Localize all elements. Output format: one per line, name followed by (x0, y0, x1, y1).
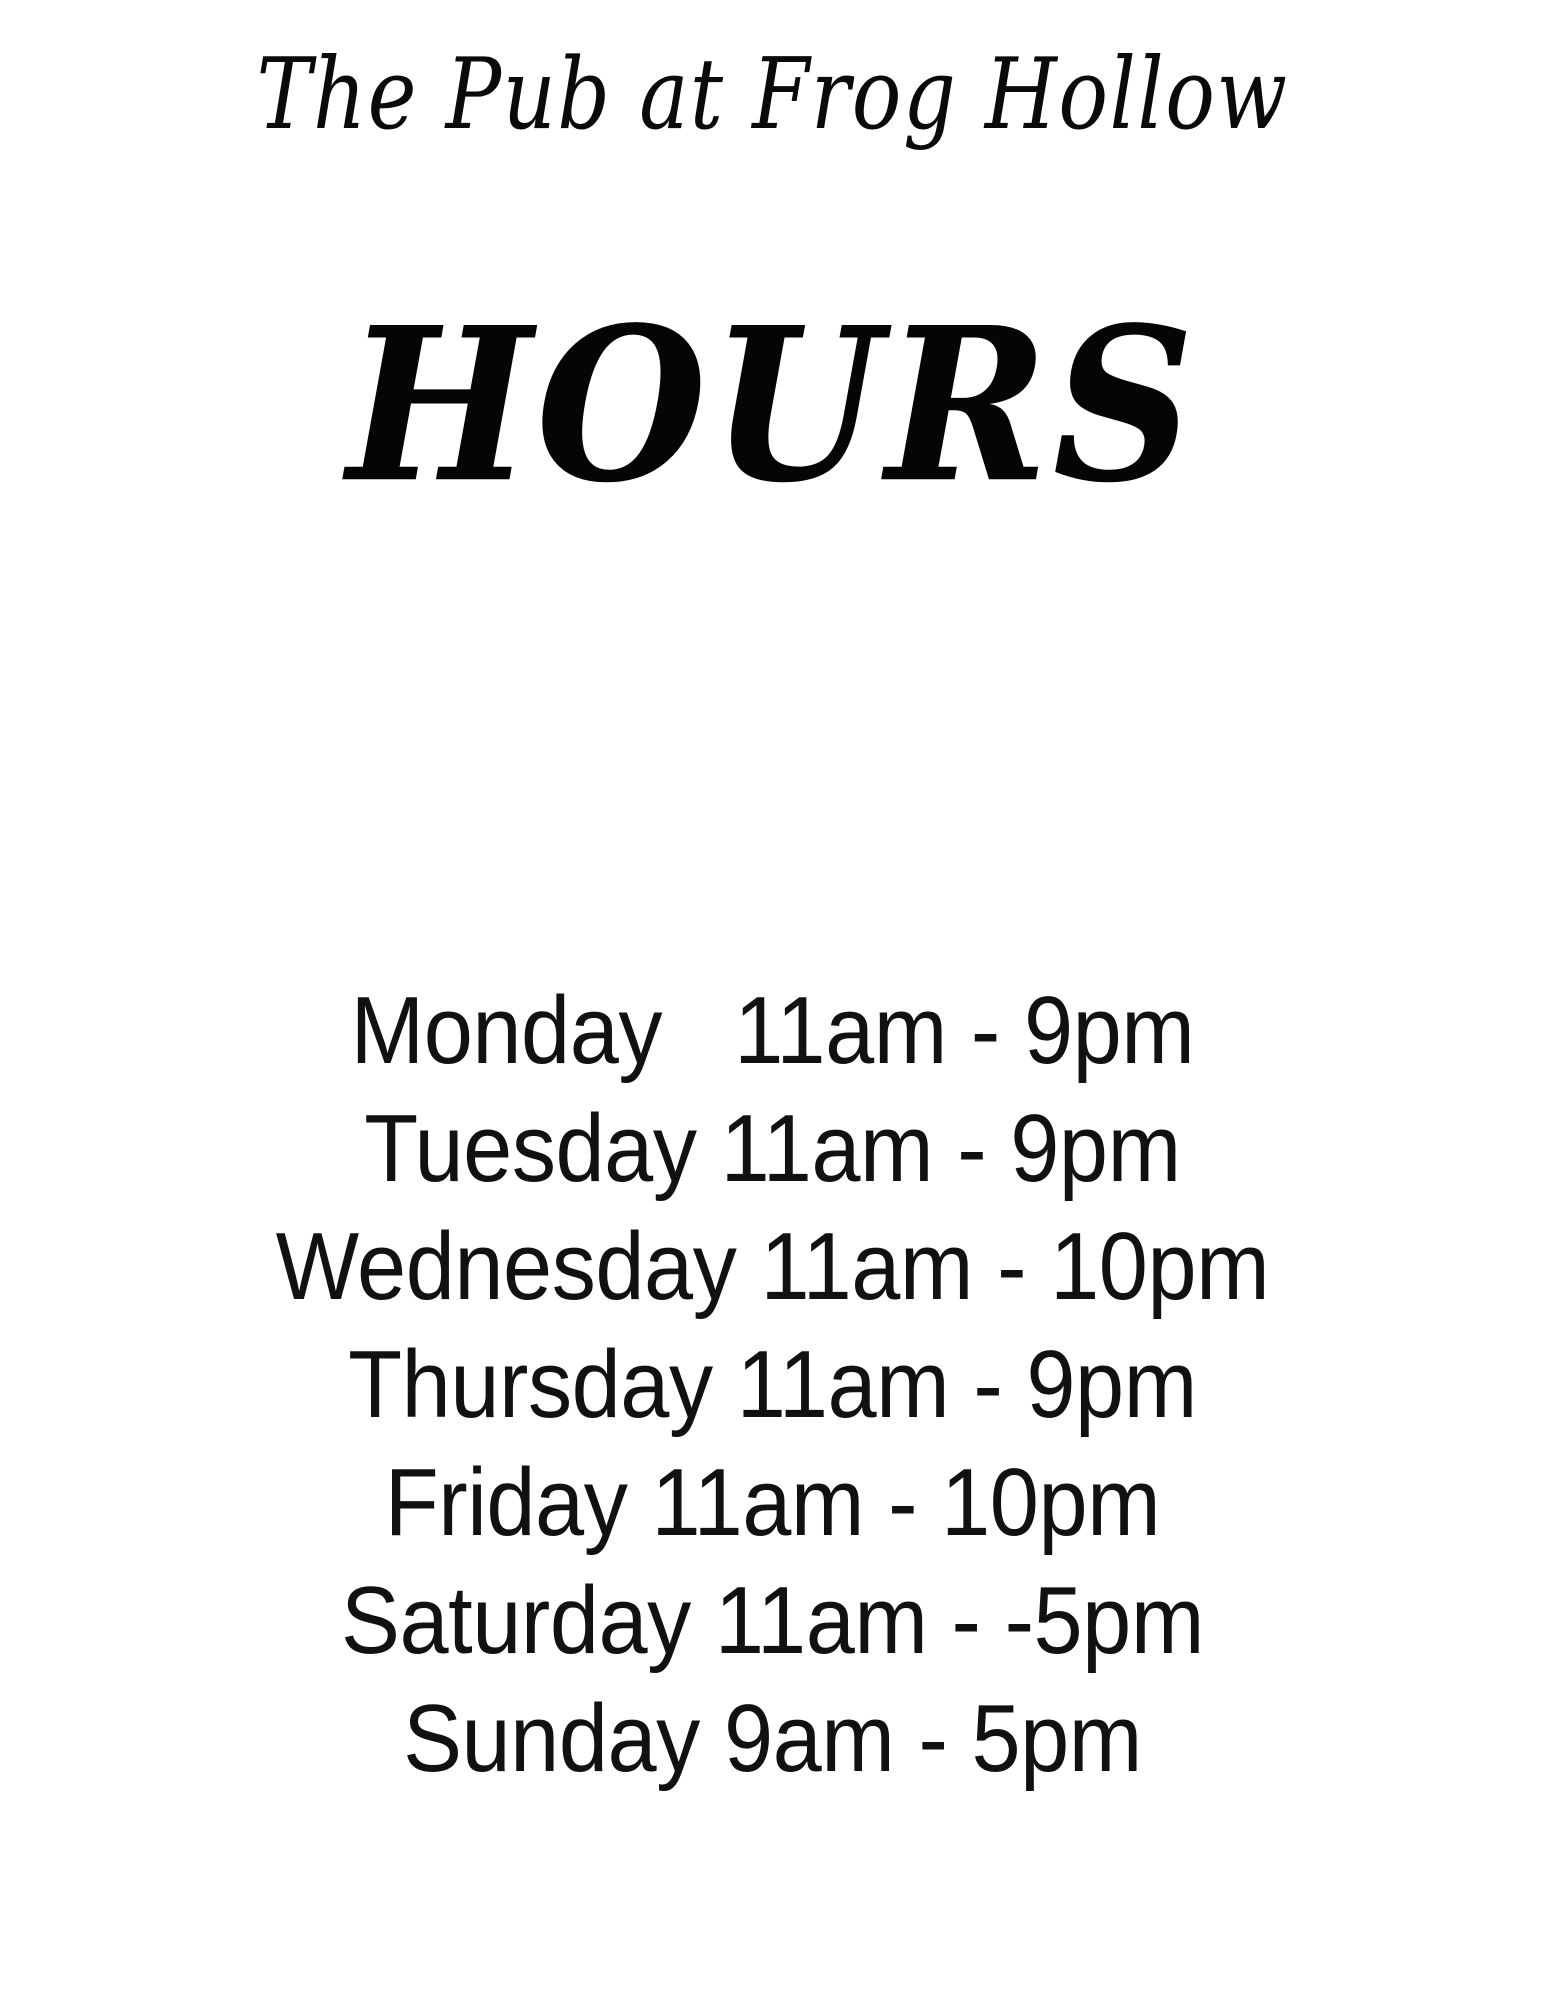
hours-list: Monday 11am - 9pm Tuesday 11am - 9pm Wed… (0, 972, 1545, 1798)
hours-row: Tuesday 11am - 9pm (62, 1090, 1483, 1208)
hours-row: Saturday 11am - -5pm (62, 1562, 1483, 1680)
hours-section-heading: HOURS (0, 300, 1545, 512)
hours-row: Thursday 11am - 9pm (62, 1326, 1483, 1444)
page-title: The Pub at Frog Hollow (31, 46, 1514, 144)
hours-row: Wednesday 11am - 10pm (62, 1208, 1483, 1326)
hours-row: Monday 11am - 9pm (62, 972, 1483, 1090)
hours-row: Friday 11am - 10pm (62, 1444, 1483, 1562)
hours-row: Sunday 9am - 5pm (62, 1680, 1483, 1798)
hours-sign-page: The Pub at Frog Hollow HOURS Monday 11am… (0, 0, 1545, 2000)
